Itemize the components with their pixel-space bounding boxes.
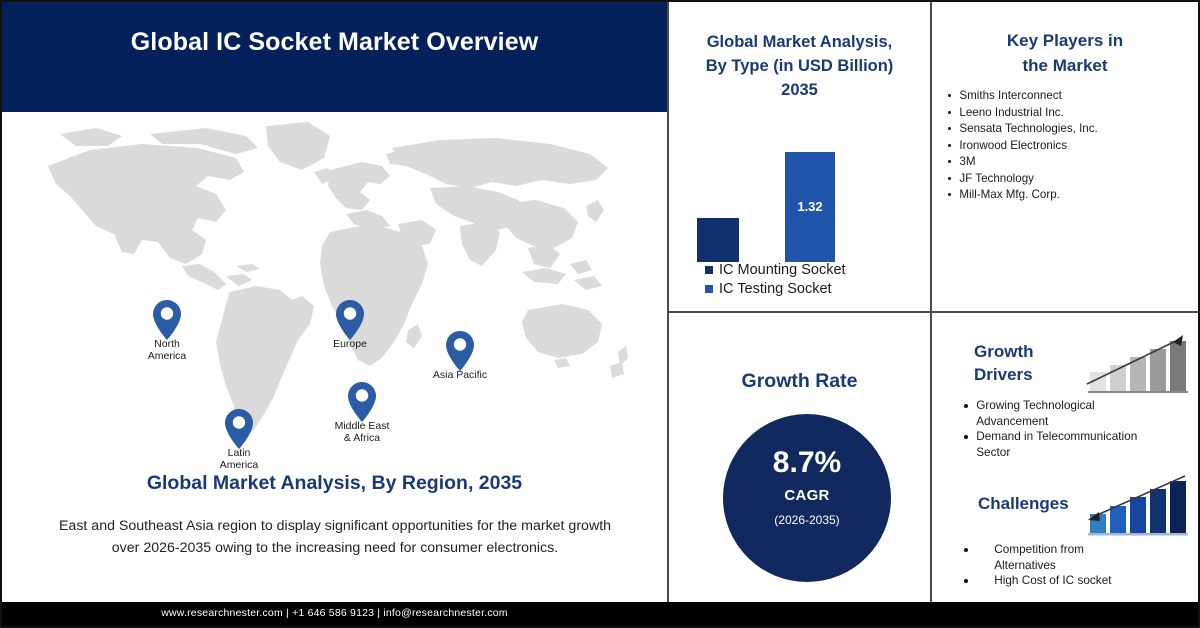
cagr-percent: 8.7% (723, 446, 891, 480)
infographic-page: Global IC Socket Market Overview (0, 0, 1200, 628)
map-pin-label: Europe (333, 339, 367, 351)
map-pin-middle-east-africa[interactable]: Middle East & Africa (347, 381, 377, 423)
legend-swatch-icon (705, 285, 713, 293)
region-analysis-description: East and Southeast Asia region to displa… (54, 516, 616, 559)
list-item: Leeno Industrial Inc. (948, 105, 1194, 122)
list-item: Sensata Technologies, Inc. (948, 121, 1194, 138)
list-item: Demand in Telecommunication Sector (964, 429, 1192, 460)
bar-ic-mounting-socket[interactable] (697, 218, 739, 262)
key-players-list: Smiths Interconnect Leeno Industrial Inc… (948, 88, 1194, 204)
list-item: JF Technology (948, 171, 1194, 188)
list-item: Mill-Max Mfg. Corp. (948, 187, 1194, 204)
divider-horizontal (667, 311, 1198, 313)
region-analysis-title: Global Market Analysis, By Region, 2035 (2, 472, 667, 495)
header-bar (2, 2, 667, 112)
bullet-icon (948, 127, 951, 130)
growth-driver-text: Demand in Telecommunication Sector (976, 429, 1137, 460)
key-player-name: Ironwood Electronics (959, 138, 1067, 155)
bullet-icon (948, 111, 951, 114)
drivers-challenges-panel: Growth Drivers Growing Technological Adv… (932, 314, 1198, 602)
bullet-icon (964, 579, 968, 583)
map-pin-label: Latin America (220, 448, 259, 471)
cagr-badge: 8.7% CAGR (2026-2035) (723, 414, 891, 582)
bullet-icon (948, 193, 951, 196)
key-player-name: JF Technology (959, 171, 1034, 188)
map-pin-latin-america[interactable]: Latin America (224, 408, 254, 450)
cagr-period: (2026-2035) (723, 513, 891, 527)
key-players-panel: Key Players in the Market Smiths Interco… (932, 2, 1198, 310)
list-item: Growing Technological Advancement (964, 398, 1192, 429)
list-item: High Cost of IC socket (964, 573, 1192, 589)
market-by-type-panel: Global Market Analysis, By Type (in USD … (669, 2, 930, 310)
map-pin-label: North America (148, 339, 187, 362)
list-item: 3M (948, 154, 1194, 171)
map-pin-europe[interactable]: Europe (335, 299, 365, 341)
legend-label: IC Testing Socket (719, 281, 832, 297)
growth-rate-panel: Growth Rate 8.7% CAGR (2026-2035) (669, 314, 930, 602)
map-pin-label: Asia Pacific (433, 370, 487, 382)
growth-drivers-list: Growing Technological Advancement Demand… (964, 398, 1192, 460)
key-player-name: Smiths Interconnect (959, 88, 1061, 105)
legend-swatch-icon (705, 266, 713, 274)
legend-label: IC Mounting Socket (719, 262, 846, 278)
list-item: Competition from Alternatives (964, 542, 1192, 573)
bar-chart-title: Global Market Analysis, By Type (in USD … (675, 30, 924, 102)
key-player-name: Leeno Industrial Inc. (959, 105, 1063, 122)
growth-driver-text: Growing Technological Advancement (976, 398, 1094, 429)
bullet-icon (948, 144, 951, 147)
list-item: Smiths Interconnect (948, 88, 1194, 105)
map-pin-north-america[interactable]: North America (152, 299, 182, 341)
world-map-svg (30, 114, 630, 444)
bullet-icon (964, 548, 968, 552)
bullet-icon (964, 404, 968, 408)
growth-drivers-chart (1084, 332, 1188, 394)
legend-item-ic-mounting-socket[interactable]: IC Mounting Socket (705, 260, 930, 279)
challenges-chart (1084, 474, 1188, 536)
growth-drivers-title: Growth Drivers (974, 340, 1034, 386)
footer-contact-text: www.researchnester.com | +1 646 586 9123… (2, 607, 667, 619)
bar-chart-legend: IC Mounting Socket IC Testing Socket (705, 260, 930, 298)
list-item: Ironwood Electronics (948, 138, 1194, 155)
world-map: North America Europe Asia Pacific (2, 114, 667, 464)
challenges-list: Competition from Alternatives High Cost … (964, 542, 1192, 589)
bullet-icon (948, 94, 951, 97)
bullet-icon (948, 177, 951, 180)
key-player-name: Sensata Technologies, Inc. (959, 121, 1097, 138)
legend-item-ic-testing-socket[interactable]: IC Testing Socket (705, 279, 930, 298)
bar-value-label: 1.32 (785, 199, 835, 214)
map-pin-label: Middle East & Africa (335, 421, 390, 444)
challenge-text: Competition from Alternatives (994, 542, 1084, 573)
cagr-label: CAGR (723, 487, 891, 504)
key-player-name: Mill-Max Mfg. Corp. (959, 187, 1060, 204)
page-title: Global IC Socket Market Overview (2, 28, 667, 57)
map-pin-asia-pacific[interactable]: Asia Pacific (445, 330, 475, 372)
key-players-title: Key Players in the Market (936, 28, 1194, 78)
bullet-icon (948, 160, 951, 163)
challenge-text: High Cost of IC socket (994, 573, 1111, 589)
region-panel: Global IC Socket Market Overview (2, 2, 667, 626)
key-player-name: 3M (959, 154, 975, 171)
challenges-title: Challenges (978, 492, 1069, 515)
bar-ic-testing-socket[interactable]: 1.32 (785, 152, 835, 262)
growth-rate-title: Growth Rate (669, 370, 930, 393)
bar-chart-plot: 1.32 (669, 142, 930, 262)
bullet-icon (964, 435, 968, 439)
